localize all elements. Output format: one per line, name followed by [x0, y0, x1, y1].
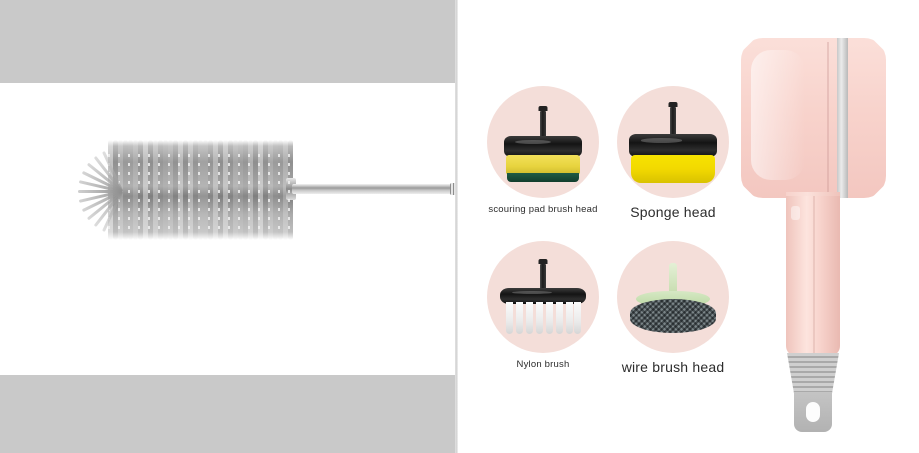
- sponge-head-art: [617, 86, 729, 198]
- device-motor-head: [741, 38, 886, 198]
- accessory-head-nylon[interactable]: Nylon brush: [478, 241, 608, 391]
- wire-brush-head-art: [617, 241, 729, 353]
- accessory-head-label: Nylon brush: [472, 359, 614, 370]
- nylon-bristles: [505, 302, 581, 334]
- product-image-canvas: scouring pad brush head Sponge head: [0, 0, 919, 453]
- accessory-head-wire[interactable]: wire brush head: [608, 241, 738, 391]
- hanging-loop-hole: [806, 402, 820, 422]
- left-panel: [0, 0, 456, 453]
- power-button[interactable]: [791, 206, 800, 220]
- accessory-head-sponge[interactable]: Sponge head: [608, 86, 738, 236]
- accent-band: [837, 38, 848, 198]
- handle-end-ribs: [787, 353, 839, 395]
- scouring-pad-head-art: [487, 86, 599, 198]
- brush-shaft: [292, 184, 456, 194]
- bottom-gray-band: [0, 375, 456, 453]
- right-panel: scouring pad brush head Sponge head: [458, 0, 919, 453]
- pink-cleaning-device: [723, 20, 908, 430]
- nylon-brush-head-art: [487, 241, 599, 353]
- accessory-head-grid: scouring pad brush head Sponge head: [478, 86, 738, 386]
- accessory-head-scouring-pad[interactable]: scouring pad brush head: [478, 86, 608, 236]
- head-seam-line: [827, 42, 829, 194]
- head-highlight: [751, 50, 805, 180]
- handle-seam-line: [813, 196, 815, 354]
- top-gray-band: [0, 0, 456, 83]
- accessory-head-label: scouring pad brush head: [472, 204, 614, 215]
- bottle-brush-product: [78, 140, 428, 240]
